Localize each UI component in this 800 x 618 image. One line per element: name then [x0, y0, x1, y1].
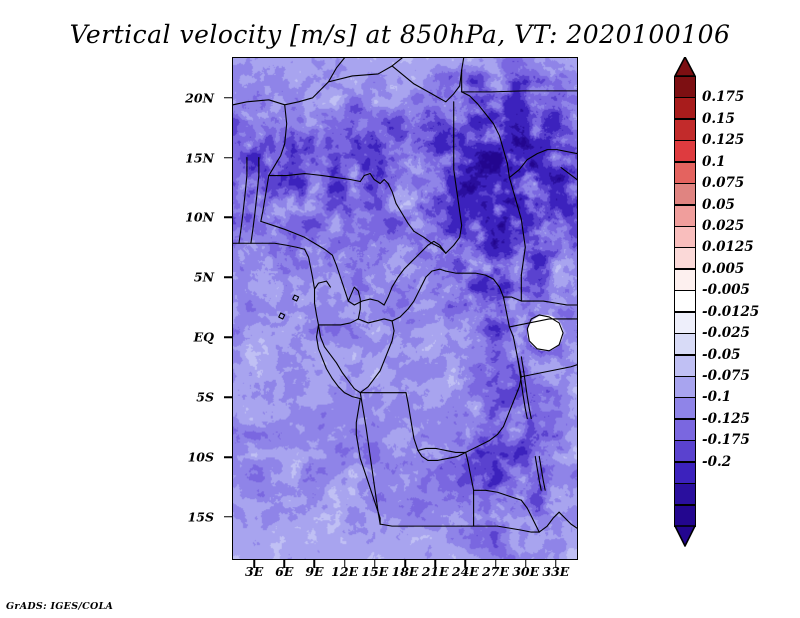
- colorbar-tick-label: -0.175: [702, 432, 750, 448]
- colorbar-segment: [674, 312, 696, 334]
- latitude-tick-mark: [224, 456, 233, 458]
- colorbar-segment: [674, 483, 696, 505]
- colorbar-tick-label: 0.075: [702, 175, 744, 191]
- colorbar-tick-label: -0.0125: [702, 304, 759, 320]
- longitude-tick-mark: [495, 560, 497, 568]
- latitude-tick-mark: [224, 396, 233, 398]
- longitude-tick-mark: [314, 560, 316, 568]
- longitude-tick-mark: [374, 560, 376, 568]
- longitude-tick-mark: [434, 560, 436, 568]
- colorbar-segment: [674, 355, 696, 377]
- colorbar-segment: [674, 376, 696, 398]
- colorbar-extend-top: [674, 57, 696, 77]
- colorbar-tick-label: -0.1: [702, 389, 731, 405]
- grads-plot-window: Vertical velocity [m/s] at 850hPa, VT: 2…: [0, 0, 800, 618]
- colorbar-segment: [674, 205, 696, 227]
- colorbar-tick-label: -0.125: [702, 411, 750, 427]
- colorbar-segment: [674, 183, 696, 205]
- colorbar[interactable]: [674, 76, 696, 526]
- colorbar-extend-bottom: [674, 525, 696, 545]
- longitude-tick-mark: [465, 560, 467, 568]
- colorbar-segment: [674, 290, 696, 312]
- map-plot-area[interactable]: [232, 57, 578, 560]
- colorbar-segment: [674, 419, 696, 441]
- longitude-tick-mark: [253, 560, 255, 568]
- longitude-tick-mark: [525, 560, 527, 568]
- colorbar-tick-label: 0.05: [702, 197, 735, 213]
- latitude-tick-mark: [224, 516, 233, 518]
- colorbar-tick-label: 0.025: [702, 218, 744, 234]
- colorbar-segment: [674, 119, 696, 141]
- latitude-tick-mark: [224, 157, 233, 159]
- colorbar-tick-label: 0.005: [702, 261, 744, 277]
- page-title: Vertical velocity [m/s] at 850hPa, VT: 2…: [0, 20, 800, 49]
- colorbar-tick-label: -0.075: [702, 368, 750, 384]
- latitude-tick-mark: [224, 217, 233, 219]
- latitude-tick-mark: [224, 336, 233, 338]
- longitude-tick-mark: [555, 560, 557, 568]
- colorbar-segment: [674, 269, 696, 291]
- colorbar-tick-label: -0.025: [702, 325, 750, 341]
- colorbar-segment: [674, 76, 696, 98]
- colorbar-tick-label: -0.2: [702, 454, 731, 470]
- colorbar-segment: [674, 462, 696, 484]
- colorbar-segment: [674, 226, 696, 248]
- longitude-tick-mark: [404, 560, 406, 568]
- latitude-tick-label: 15S: [188, 509, 214, 524]
- colorbar-tick-label: 0.125: [702, 132, 744, 148]
- colorbar-segment: [674, 140, 696, 162]
- colorbar-tick-label: 0.175: [702, 89, 744, 105]
- longitude-tick-mark: [344, 560, 346, 568]
- colorbar-tick-label: 0.0125: [702, 239, 754, 255]
- latitude-tick-label: 10S: [188, 450, 214, 465]
- colorbar-tick-label: -0.05: [702, 347, 740, 363]
- colorbar-tick-label: 0.1: [702, 154, 726, 170]
- latitude-tick-label: 5N: [194, 270, 214, 285]
- latitude-tick-mark: [224, 277, 233, 279]
- colorbar-tick-label: -0.005: [702, 282, 750, 298]
- colorbar-segment: [674, 333, 696, 355]
- longitude-tick-mark: [284, 560, 286, 568]
- colorbar-segment: [674, 247, 696, 269]
- attribution-footer: GrADS: IGES/COLA: [6, 601, 113, 612]
- latitude-tick-label: 5S: [196, 390, 214, 405]
- colorbar-tick-label: 0.15: [702, 111, 735, 127]
- latitude-tick-mark: [224, 97, 233, 99]
- latitude-tick-label: 15N: [185, 150, 214, 165]
- colorbar-segment: [674, 397, 696, 419]
- colorbar-segment: [674, 440, 696, 462]
- colorbar-segment: [674, 505, 696, 527]
- colorbar-segment: [674, 162, 696, 184]
- colorbar-segment: [674, 97, 696, 119]
- latitude-tick-label: EQ: [194, 330, 214, 345]
- latitude-tick-label: 20N: [185, 90, 214, 105]
- country-borders-overlay: [233, 58, 577, 559]
- latitude-tick-label: 10N: [185, 210, 214, 225]
